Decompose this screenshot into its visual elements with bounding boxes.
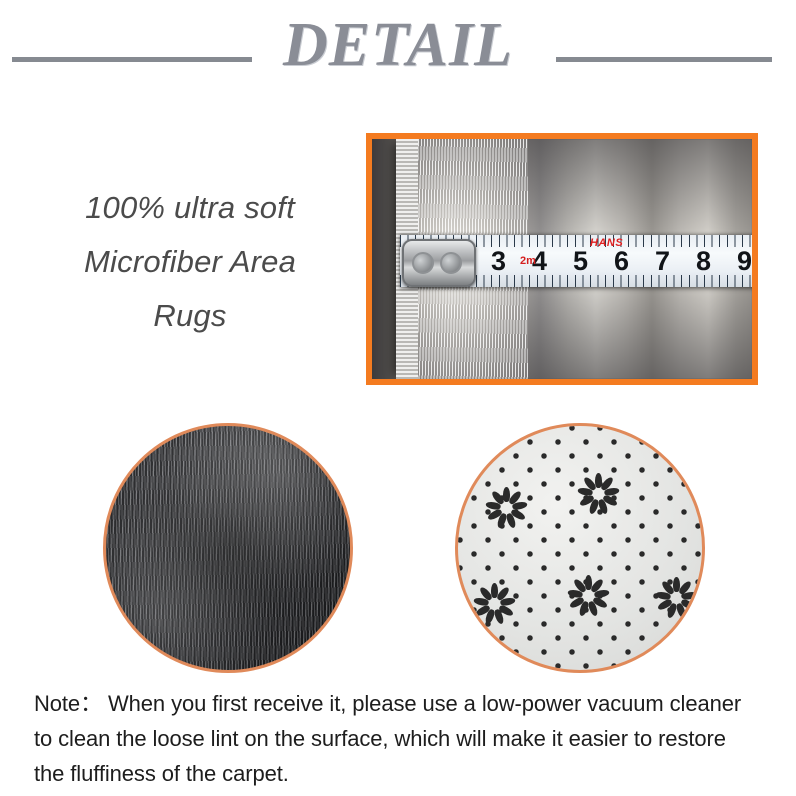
header: DETAIL bbox=[0, 0, 796, 112]
tape-number-3: 3 bbox=[491, 246, 506, 276]
backing-rosette bbox=[566, 566, 610, 610]
tape-number-5: 5 bbox=[573, 246, 588, 276]
tape-length-label: 2m bbox=[520, 255, 536, 267]
backing-rosette bbox=[576, 464, 620, 508]
headline-line-2: Microfiber Area bbox=[16, 235, 364, 289]
care-note: Note： When you first receive it, please … bbox=[34, 686, 760, 791]
pile-closeup-swatch bbox=[103, 423, 353, 673]
pile-sheen-overlay bbox=[106, 426, 350, 670]
tape-number-6: 6 bbox=[614, 246, 629, 276]
product-detail-page: DETAIL 100% ultra soft Microfiber Area R… bbox=[0, 0, 796, 796]
headline-line-3: Rugs bbox=[16, 289, 364, 343]
backing-dot-grid bbox=[455, 423, 705, 673]
tape-measure-photo: 2 3 4 5 6 7 8 9 2m HANS bbox=[366, 133, 758, 385]
tape-number-8: 8 bbox=[696, 246, 711, 276]
rug-dark-edge bbox=[372, 139, 396, 379]
headline-block: 100% ultra soft Microfiber Area Rugs bbox=[16, 181, 364, 343]
backing-rosette bbox=[472, 574, 516, 618]
backing-rosette bbox=[654, 568, 698, 612]
page-title: DETAIL bbox=[0, 14, 796, 76]
headline-line-1: 100% ultra soft bbox=[16, 181, 364, 235]
anti-slip-backing-swatch bbox=[455, 423, 705, 673]
tape-brand-label: HANS bbox=[590, 237, 623, 249]
backing-rosette bbox=[484, 478, 528, 522]
tape-end-hook bbox=[402, 239, 476, 287]
tape-number-9: 9 bbox=[737, 246, 752, 276]
tape-number-7: 7 bbox=[655, 246, 670, 276]
